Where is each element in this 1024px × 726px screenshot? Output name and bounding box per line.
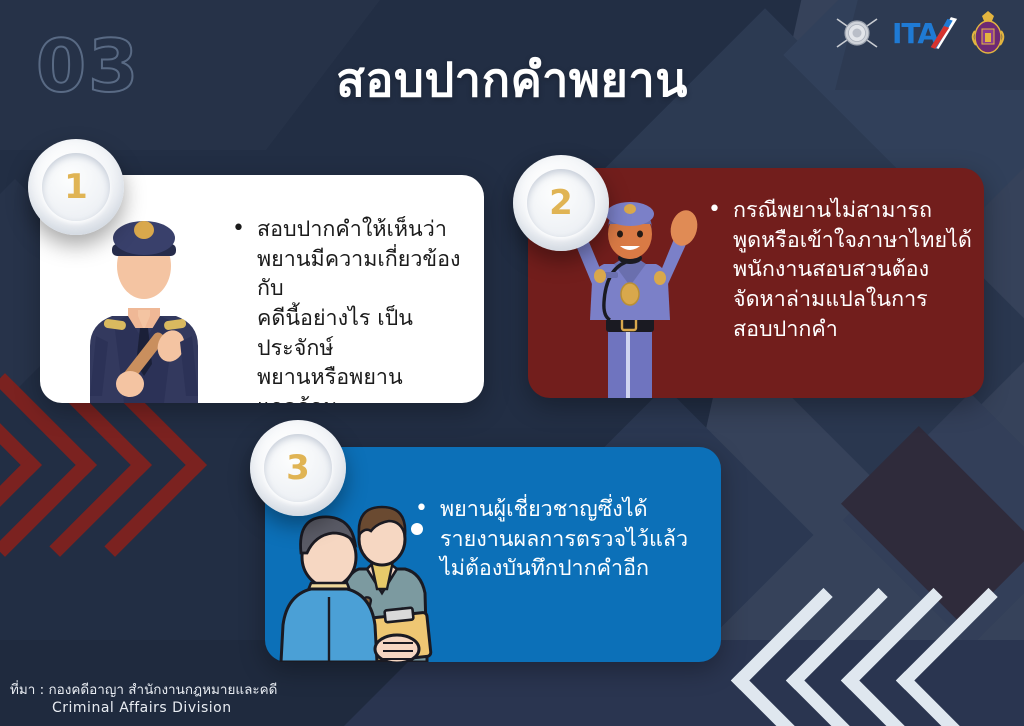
- step-badge-1: 1: [28, 139, 124, 235]
- source-footer: ที่มา : กองคดีอาญา สำนักงานกฎหมายและคดี …: [10, 681, 277, 718]
- police-emblem-logo: [834, 10, 880, 56]
- step-badge-2: 2: [513, 155, 609, 251]
- card-2-text: กรณีพยานไม่สามารถ พูดหรือเข้าใจภาษาไทยได…: [733, 196, 972, 344]
- step-badge-3: 3: [250, 420, 346, 516]
- logo-group: ITA: [834, 8, 1006, 58]
- interview-two-people-clipboard-illustration: [277, 497, 437, 662]
- infographic-slide: 03 สอบปากคำพยาน ITA: [0, 0, 1024, 726]
- garuda-emblem-logo: [970, 9, 1006, 57]
- card-2-content: • กรณีพยานไม่สามารถ พูดหรือเข้าใจภาษาไทย…: [708, 196, 978, 344]
- source-line-thai: ที่มา : กองคดีอาญา สำนักงานกฎหมายและคดี: [10, 681, 277, 699]
- card-1-text: สอบปากคำให้เห็นว่า พยานมีความเกี่ยวข้องก…: [257, 215, 482, 403]
- card-1-content: • สอบปากคำให้เห็นว่า พยานมีความเกี่ยวข้อ…: [232, 215, 482, 403]
- card-3-content: • พยานผู้เชี่ยวชาญซึ่งได้ รายงานผลการตรว…: [415, 495, 715, 584]
- card-2-bullet: •: [708, 196, 721, 224]
- card-1-bullet: •: [232, 215, 245, 243]
- ita-logo: ITA: [892, 13, 958, 53]
- source-line-english: Criminal Affairs Division: [52, 699, 277, 718]
- step-badge-2-number: 2: [549, 183, 573, 223]
- step-badge-1-number: 1: [64, 167, 88, 207]
- card-3-text: พยานผู้เชี่ยวชาญซึ่งได้ รายงานผลการตรวจไ…: [440, 495, 688, 584]
- step-badge-3-number: 3: [286, 448, 310, 488]
